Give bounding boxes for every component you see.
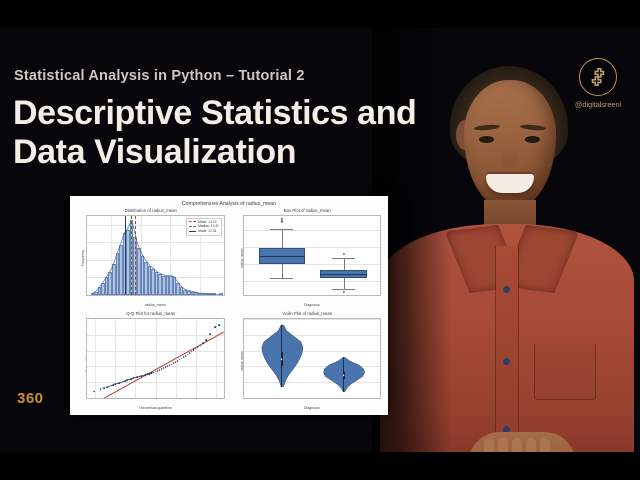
subplot-violinplot: Violin Plot of radius_mean radius_mean D… xyxy=(231,311,385,411)
outlier-point xyxy=(281,218,283,220)
violin-median-dot xyxy=(343,374,345,376)
whisker-lower xyxy=(282,264,283,278)
presenter-finger xyxy=(512,438,522,452)
subplot-title: Box Plot of radius_mean xyxy=(231,208,385,213)
matplotlib-figure: Comprehensive Analysis of radius_mean Di… xyxy=(70,196,388,415)
gridline-y xyxy=(244,264,381,265)
gridline-x xyxy=(196,319,197,398)
presenter-finger xyxy=(540,438,550,452)
whisker-cap-upper xyxy=(270,229,293,230)
letterbox-top xyxy=(0,0,640,28)
gridline-x xyxy=(95,319,96,398)
gridline-y xyxy=(244,230,381,231)
plot-area: 510152025-3-2-10123 xyxy=(86,318,225,399)
median-line xyxy=(259,256,306,257)
legend-label: Mode: 12.34 xyxy=(198,229,216,234)
outlier-point xyxy=(342,253,344,255)
stat-marker-line xyxy=(131,216,132,295)
data-point xyxy=(100,388,102,390)
data-point xyxy=(93,391,95,393)
whisker-cap-lower xyxy=(270,278,293,279)
data-point xyxy=(189,352,191,354)
legend-item: Mode: 12.34 xyxy=(189,229,219,234)
presenter-nose xyxy=(502,146,518,170)
axis-label-x: Diagnosis xyxy=(243,303,382,307)
page-title-line2: Data Visualization xyxy=(13,133,433,172)
gridline-y xyxy=(87,398,224,399)
violin-shape xyxy=(244,319,381,398)
gridline-y xyxy=(87,295,224,296)
whisker-cap-lower xyxy=(332,289,355,290)
data-point xyxy=(103,387,105,389)
plot-area: 10152025MalignantBenign xyxy=(243,215,382,296)
data-point xyxy=(195,348,197,350)
watermark: @digitalsreeni xyxy=(568,58,628,109)
letterbox-bottom xyxy=(0,452,640,480)
presenter-finger xyxy=(526,438,536,452)
gridline-x xyxy=(156,319,157,398)
python-logo-icon xyxy=(579,58,617,96)
watermark-handle: @digitalsreeni xyxy=(568,100,628,109)
gridline-x xyxy=(115,319,116,398)
presenter-shirt-pocket xyxy=(534,344,596,400)
legend-swatch xyxy=(189,226,196,227)
whisker-cap-upper xyxy=(332,258,355,259)
data-point xyxy=(191,351,193,353)
axis-label-x: Theoretical quantiles xyxy=(86,406,225,410)
data-point xyxy=(209,333,211,335)
outlier-point xyxy=(342,291,344,293)
subplot-boxplot: Box Plot of radius_mean radius_mean Diag… xyxy=(231,208,385,308)
presenter-eye-left xyxy=(479,136,494,143)
legend-swatch xyxy=(189,231,196,232)
gridline-y xyxy=(244,398,381,399)
stat-marker-line xyxy=(135,216,136,295)
page-title-line1: Descriptive Statistics and xyxy=(13,94,416,132)
data-point xyxy=(202,342,204,344)
presenter-shirt-button xyxy=(503,286,510,293)
presenter-finger xyxy=(498,438,508,452)
figure-suptitle: Comprehensive Analysis of radius_mean xyxy=(74,201,384,207)
data-point xyxy=(197,346,199,348)
data-point xyxy=(218,324,220,326)
legend: Mean: 14.13Median: 13.37Mode: 12.34 xyxy=(186,218,222,237)
slide-kicker: Statistical Analysis in Python – Tutoria… xyxy=(14,68,305,84)
subplot-histogram: Distribution of radius_mean Frequency ra… xyxy=(74,208,228,308)
presenter-shirt-placket xyxy=(496,246,518,452)
subplot-title: Violin Plot of radius_mean xyxy=(231,311,385,316)
legend-swatch xyxy=(189,221,196,222)
whisker-upper xyxy=(282,229,283,248)
axis-label-x: Diagnosis xyxy=(243,406,382,410)
stat-marker-line xyxy=(125,216,126,295)
subplot-title: Distribution of radius_mean xyxy=(74,208,228,213)
median-line xyxy=(320,274,367,275)
data-point xyxy=(205,340,207,342)
page-title: Descriptive Statistics and Data Visualiz… xyxy=(13,94,433,173)
subplot-qqplot: Q-Q Plot for radius_mean Ordered Values … xyxy=(74,311,228,411)
subplot-title: Q-Q Plot for radius_mean xyxy=(74,311,228,316)
data-point xyxy=(199,345,201,347)
gridline-x xyxy=(135,319,136,398)
presenter-finger xyxy=(484,438,494,452)
gridline-x xyxy=(216,319,217,398)
whisker-upper xyxy=(344,258,345,270)
presenter-shirt-button xyxy=(503,358,510,365)
presenter-smile xyxy=(486,174,534,193)
video-frame: Statistical Analysis in Python – Tutoria… xyxy=(0,0,640,480)
plot-area: 02040608010152025Mean: 14.13Median: 13.3… xyxy=(86,215,225,296)
badge-360: 360 xyxy=(17,390,44,407)
data-point xyxy=(187,354,189,356)
gridline-y xyxy=(244,281,381,282)
presenter-eye-right xyxy=(525,136,540,143)
axis-label-y: Frequency xyxy=(81,250,85,266)
plot-area: 51015202530MalignantBenign xyxy=(243,318,382,399)
data-point xyxy=(214,326,216,328)
axis-label-x: radius_mean xyxy=(86,303,225,307)
whisker-lower xyxy=(344,278,345,289)
